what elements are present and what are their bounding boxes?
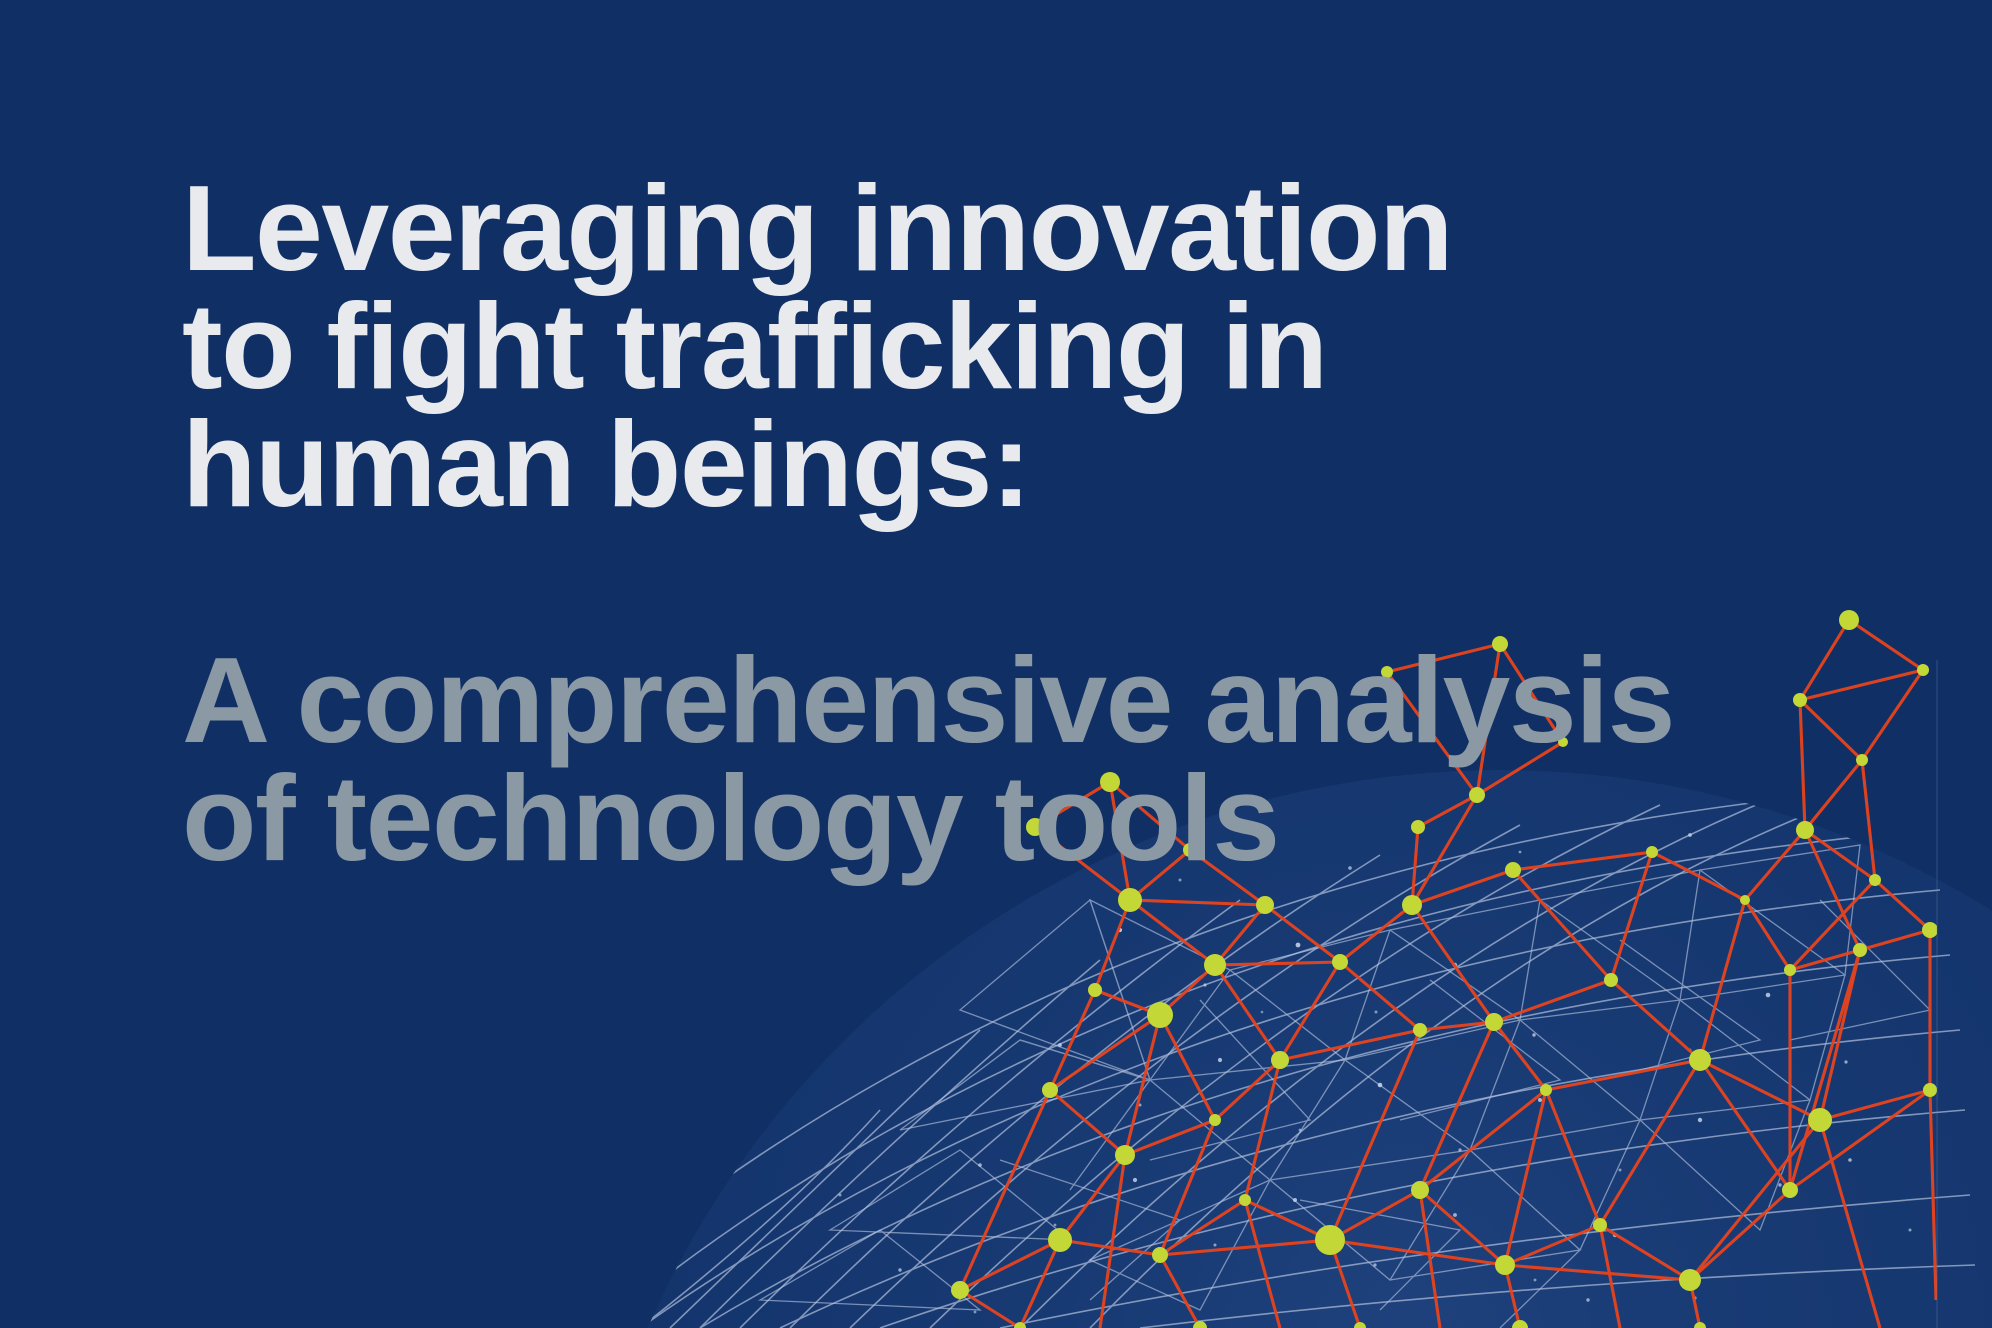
title-line-1: Leveraging innovation [182,169,1742,287]
title-line-3: human beings: [182,405,1742,523]
cover-page: Leveraging innovation to fight trafficki… [0,0,1992,1328]
cover-text-block: Leveraging innovation to fight trafficki… [182,148,1742,897]
title-line-2: to fight trafficking in [182,287,1742,405]
page-subtitle: A comprehensive analysis of technology t… [182,641,1742,877]
page-title: Leveraging innovation to fight trafficki… [182,169,1742,523]
title-subtitle-spacer [182,545,1742,621]
subtitle-line-1: A comprehensive analysis [182,641,1742,759]
globe-triangulation [760,845,1930,1328]
subtitle-line-2: of technology tools [182,759,1742,877]
